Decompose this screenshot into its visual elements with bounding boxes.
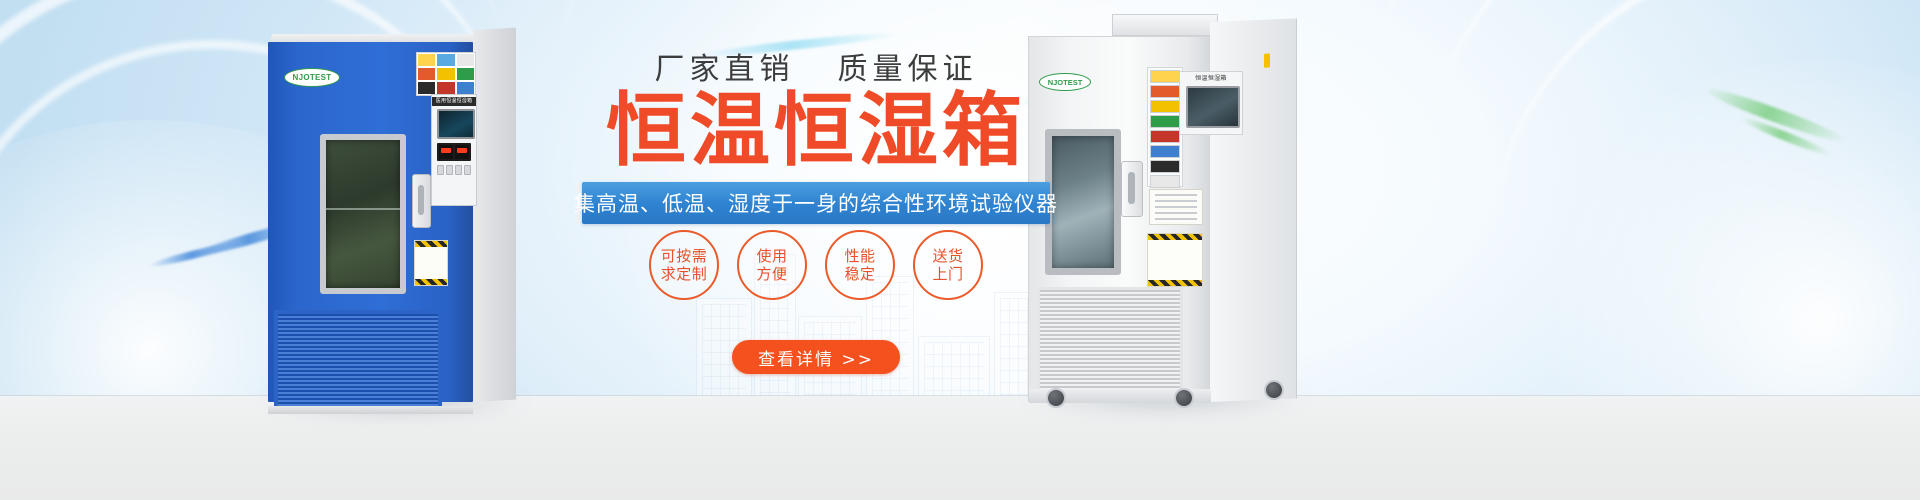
control-panel-title: 恒温恒湿箱 xyxy=(1180,74,1242,84)
feature-badge-line2: 求定制 xyxy=(661,265,708,283)
spec-plate xyxy=(1149,189,1203,225)
caster-wheel xyxy=(1174,388,1194,408)
feature-badge-line1: 送货 xyxy=(932,247,963,265)
control-panel-title: 医用恒温恒湿箱 xyxy=(432,97,476,106)
subtitle-text: 集高温、低温、湿度于一身的综合性环境试验仪器 xyxy=(574,188,1058,218)
control-buttons xyxy=(437,165,471,175)
feature-badge-delivery[interactable]: 送货 上门 xyxy=(913,230,983,300)
chamber-front-body: NJOTEST 医用恒温恒湿箱 xyxy=(268,42,473,402)
safety-label-column xyxy=(1147,67,1183,187)
feature-badge-line1: 性能 xyxy=(844,247,875,265)
page-title: 恒温恒湿箱 xyxy=(566,90,1066,172)
promo-banner: NJOTEST 医用恒温恒湿箱 NJOTEST xyxy=(0,0,1920,500)
warning-sticker xyxy=(414,240,448,286)
feature-badge-line2: 方便 xyxy=(756,265,787,283)
control-panel: 医用恒温恒湿箱 xyxy=(431,94,477,206)
feature-badge-easy-use[interactable]: 使用 方便 xyxy=(737,230,807,300)
chamber-door-handle xyxy=(1121,161,1143,217)
chamber-door-handle xyxy=(412,174,431,228)
cta-container: 查看详情 >> xyxy=(566,340,1066,374)
feature-badge-line2: 上门 xyxy=(932,265,963,283)
safety-label-grid xyxy=(416,52,476,96)
feature-badge-line1: 使用 xyxy=(756,247,787,265)
hmi-touchscreen xyxy=(1186,86,1240,128)
chamber-base-plinth xyxy=(268,406,473,414)
kicker-right-text: 质量保证 xyxy=(838,52,978,87)
subtitle-bar: 集高温、低温、湿度于一身的综合性环境试验仪器 xyxy=(582,182,1050,224)
brand-logo: NJOTEST xyxy=(284,68,340,87)
warning-sticker xyxy=(1147,233,1203,287)
feature-badge-custom[interactable]: 可按需 求定制 xyxy=(649,230,719,300)
feature-badges: 可按需 求定制 使用 方便 性能 稳定 送货 上门 xyxy=(566,230,1066,300)
right-product-image: NJOTEST 恒温恒湿箱 xyxy=(1028,14,1296,402)
feature-badge-line2: 稳定 xyxy=(844,265,875,283)
view-details-button[interactable]: 查看详情 >> xyxy=(732,340,900,374)
control-panel: 恒温恒湿箱 xyxy=(1179,71,1243,135)
hmi-touchscreen xyxy=(437,109,475,139)
kicker-left-text: 厂家直销 xyxy=(654,52,794,87)
digital-readouts xyxy=(437,143,471,161)
left-product-image: NJOTEST 医用恒温恒湿箱 xyxy=(268,30,516,402)
chamber-side-panel xyxy=(473,28,516,402)
feature-badge-line1: 可按需 xyxy=(661,247,708,265)
caster-wheel xyxy=(1264,380,1284,400)
chamber-roof-unit xyxy=(1112,14,1218,36)
caster-wheel xyxy=(1046,388,1066,408)
feature-badge-stable[interactable]: 性能 稳定 xyxy=(825,230,895,300)
chamber-viewing-window xyxy=(320,134,406,294)
banner-copy-block: 厂家直销 质量保证 恒温恒湿箱 集高温、低温、湿度于一身的综合性环境试验仪器 xyxy=(566,44,1066,224)
kicker-line: 厂家直销 质量保证 xyxy=(566,44,1066,88)
condenser-grille xyxy=(274,310,442,414)
